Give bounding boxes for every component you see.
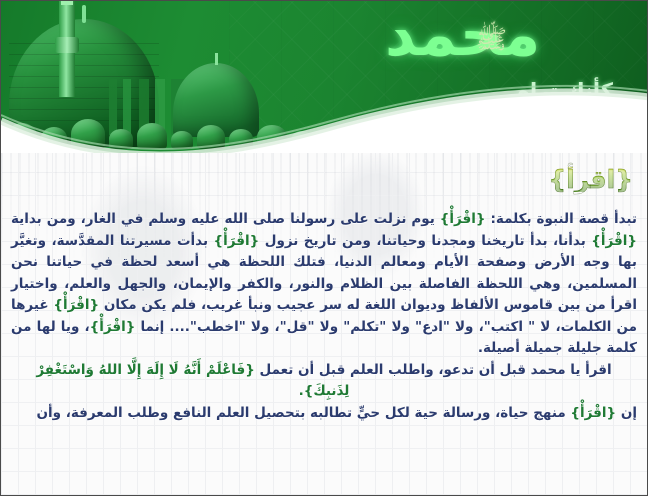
- article-body: تبدأ قصة النبوة بكلمة: {اقْرَأْ} يوم نزل…: [11, 209, 637, 424]
- article-text: إن: [616, 405, 637, 421]
- keyword-iqra: {اقْرَأْ}: [90, 319, 136, 335]
- salla-allahu-alayhi-wasallam-icon: ﷺ: [476, 23, 507, 61]
- header-banner: محمد ﷺ كأنك تراه: [1, 1, 648, 161]
- page-root: محمد ﷺ كأنك تراه {اقرأ} تبدأ قصة النبوة …: [0, 0, 648, 496]
- article-paragraph: اقرأ يا محمد قبل أن تدعو، واطلب العلم قب…: [11, 360, 637, 403]
- keyword-iqra: {اقْرَأْ}: [53, 297, 99, 313]
- article-paragraph: تبدأ قصة النبوة بكلمة: {اقْرَأْ} يوم نزل…: [11, 209, 637, 360]
- page-title-row: {اقرأ}: [548, 167, 633, 192]
- article-text: منهج حياة، ورسالة حية لكل حيٍّ تطالبه بت…: [37, 405, 571, 421]
- article-paragraph: إن {اقْرَأْ} منهج حياة، ورسالة حية لكل ح…: [11, 403, 637, 425]
- article-text: بدأنا، بدأ تاريخنا ومجدنا وحياتنا، ومن ت…: [259, 233, 591, 249]
- page-title: {اقرأ}: [548, 167, 633, 192]
- wave-divider: [1, 77, 648, 161]
- keyword-iqra: {اقْرَأْ}: [591, 233, 637, 249]
- article-text: يوم نزلت على رسولنا صلى الله عليه وسلم ف…: [11, 211, 440, 227]
- article-text: اقرأ يا محمد قبل أن تدعو، واطلب العلم قب…: [255, 362, 612, 378]
- keyword-iqra: {اقْرَأْ}: [440, 211, 486, 227]
- keyword-iqra: {اقْرَأْ}: [570, 405, 616, 421]
- keyword-iqra: {اقْرَأْ}: [214, 233, 260, 249]
- content-area: {اقرأ} تبدأ قصة النبوة بكلمة: {اقْرَأْ} …: [1, 153, 647, 495]
- article-text: تبدأ قصة النبوة بكلمة:: [486, 211, 637, 227]
- calligraphy-muhammad: محمد: [385, 5, 635, 65]
